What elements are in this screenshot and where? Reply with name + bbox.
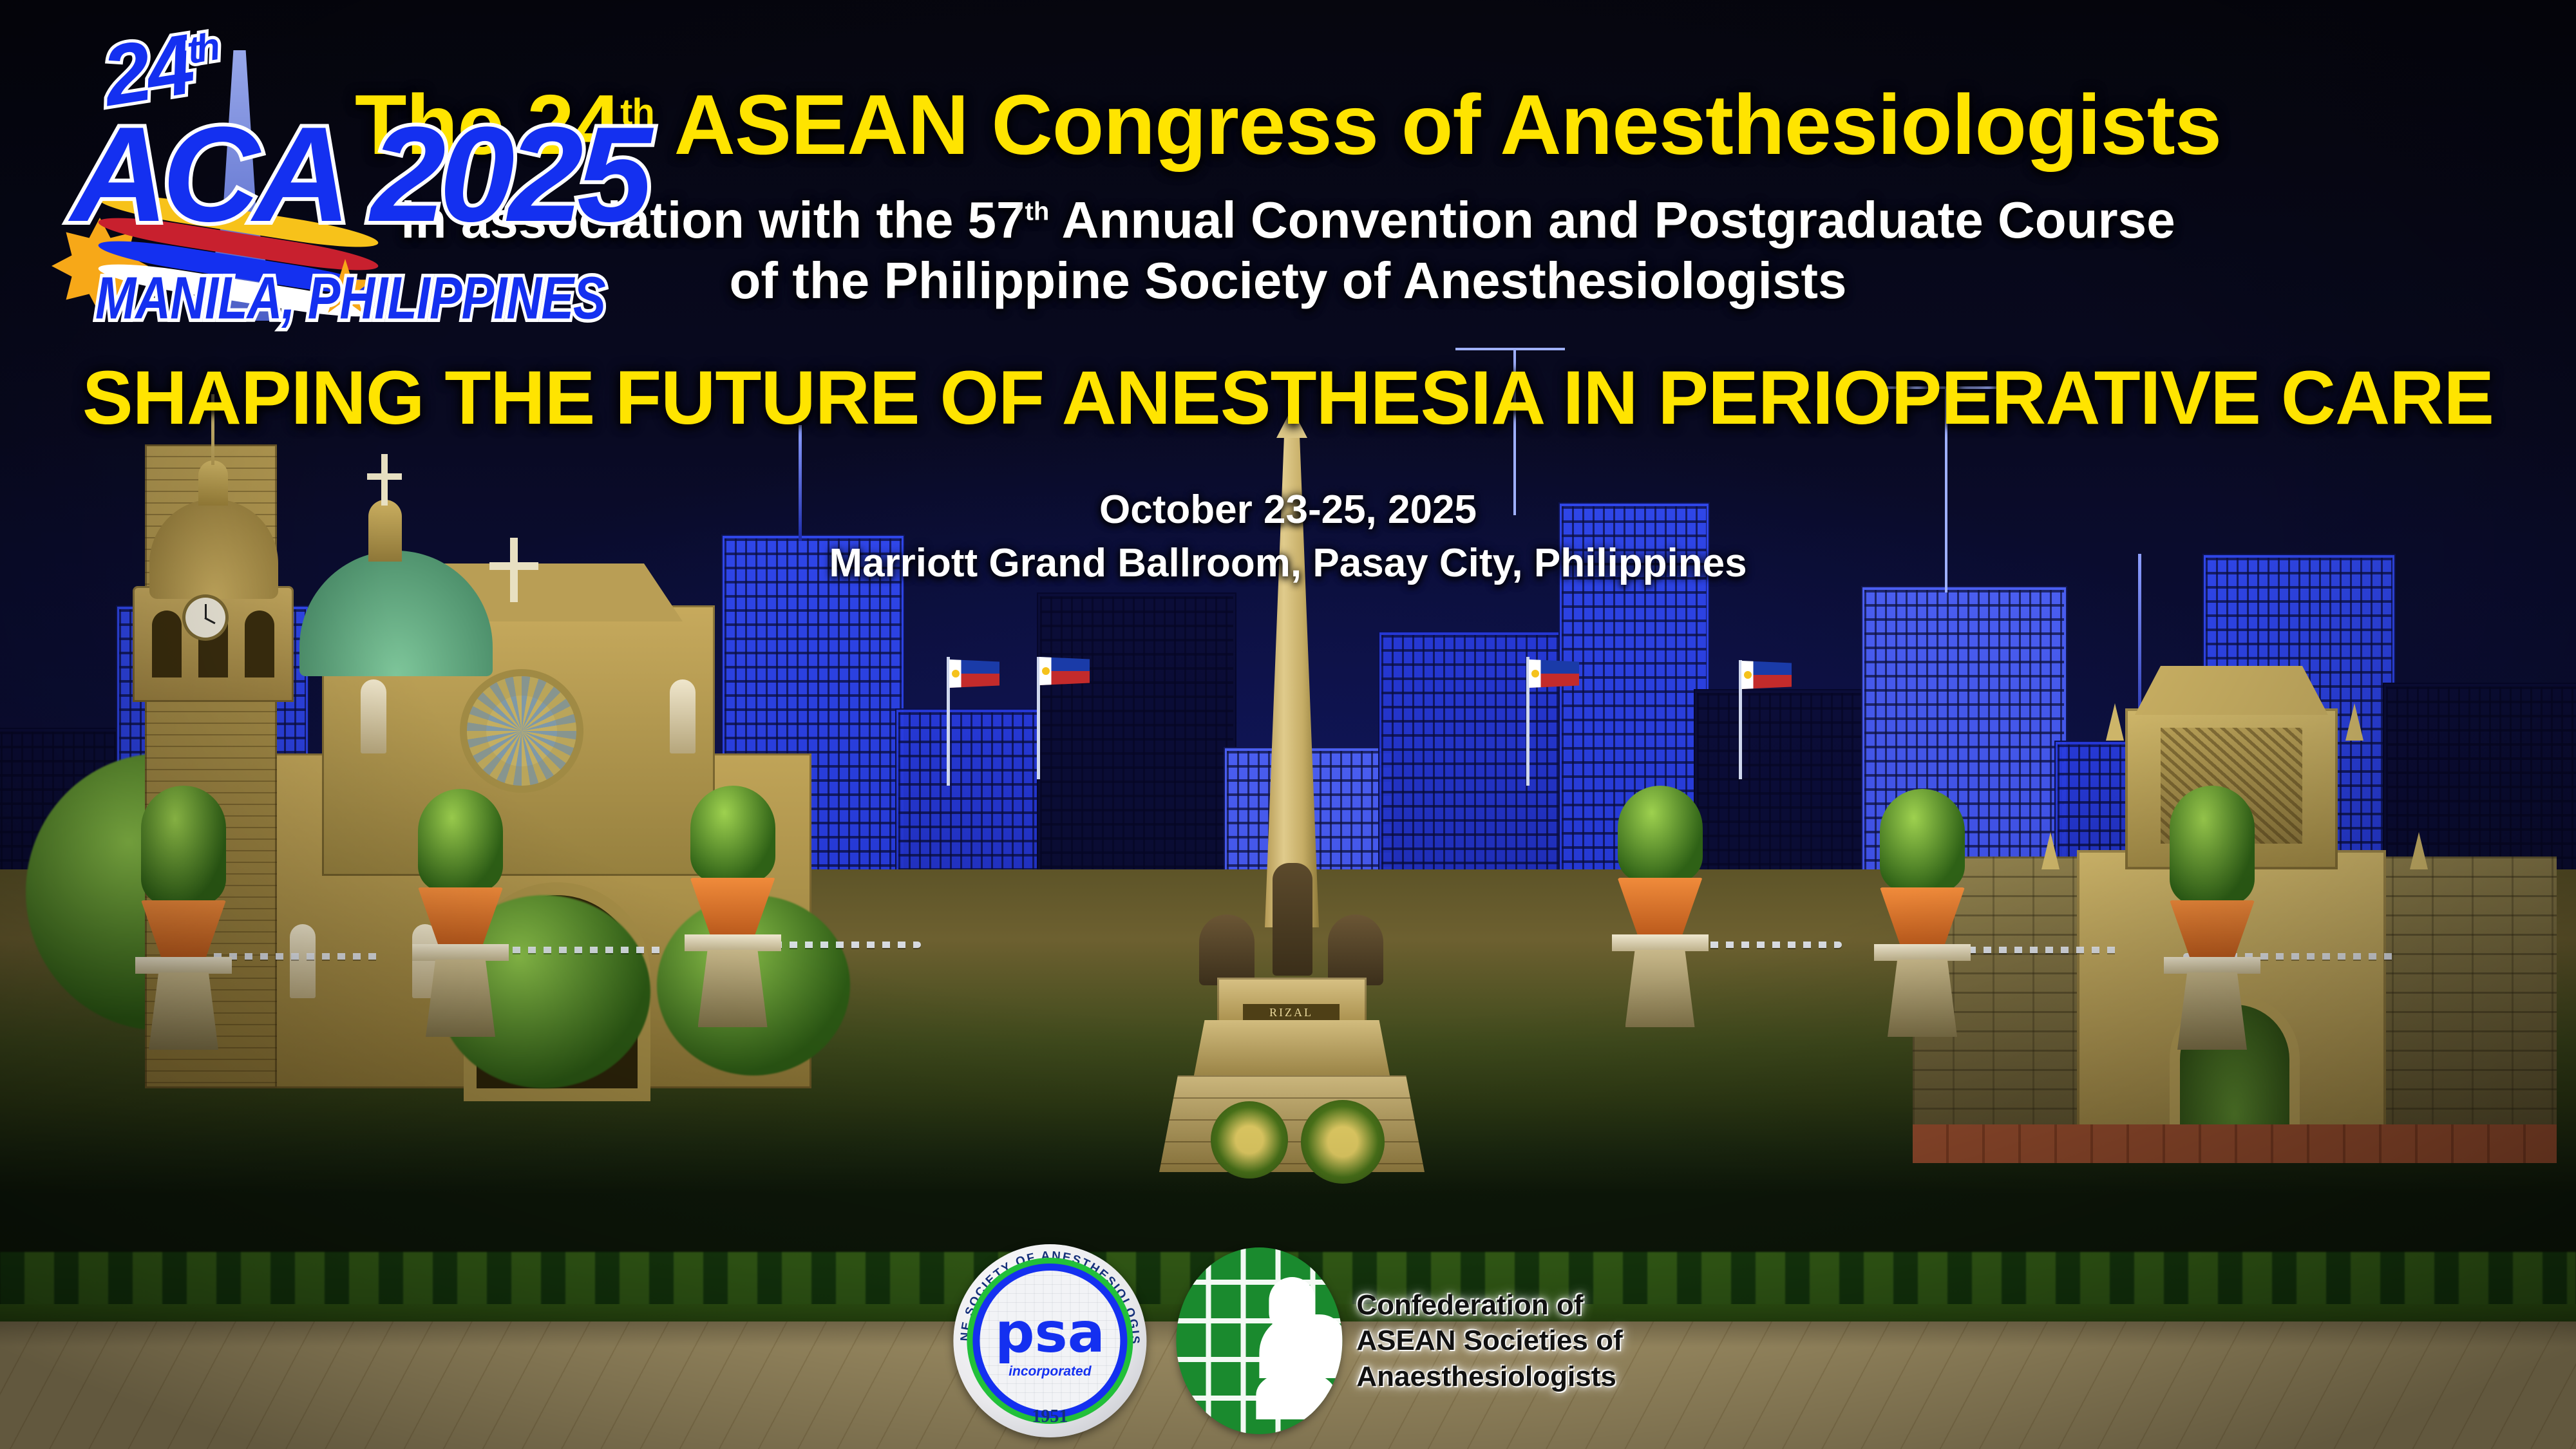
congress-theme: SHAPING THE FUTURE OF ANESTHESIA IN PERI… — [0, 354, 2576, 442]
organizer-logos: PHILIPPINE SOCIETY OF ANESTHESIOLOGISTS,… — [953, 1244, 1622, 1437]
congress-dates: October 23-25, 2025 — [0, 487, 2576, 533]
aca-2025-logo: 24th ACA 2025 MANILA, PHILIPPINES — [26, 13, 451, 348]
casa-logo: Confederation of ASEAN Societies of Anae… — [1176, 1247, 1622, 1434]
monument-inscription: RIZAL — [1243, 1004, 1340, 1021]
casa-name: Confederation of ASEAN Societies of Anae… — [1356, 1287, 1622, 1394]
congress-venue: Marriott Grand Ballroom, Pasay City, Phi… — [0, 540, 2576, 586]
logo-wordmark: ACA 2025 — [71, 97, 646, 252]
psa-incorporated-label: incorporated — [953, 1364, 1146, 1379]
casa-globe-icon — [1176, 1247, 1342, 1434]
conference-banner: RIZAL — [0, 0, 2576, 1449]
psa-seal-logo: PHILIPPINE SOCIETY OF ANESTHESIOLOGISTS,… — [953, 1244, 1146, 1437]
psa-founding-year: 1951 — [953, 1406, 1146, 1427]
psa-monogram: psa — [953, 1305, 1146, 1361]
logo-place: MANILA, PHILIPPINES — [95, 264, 605, 332]
